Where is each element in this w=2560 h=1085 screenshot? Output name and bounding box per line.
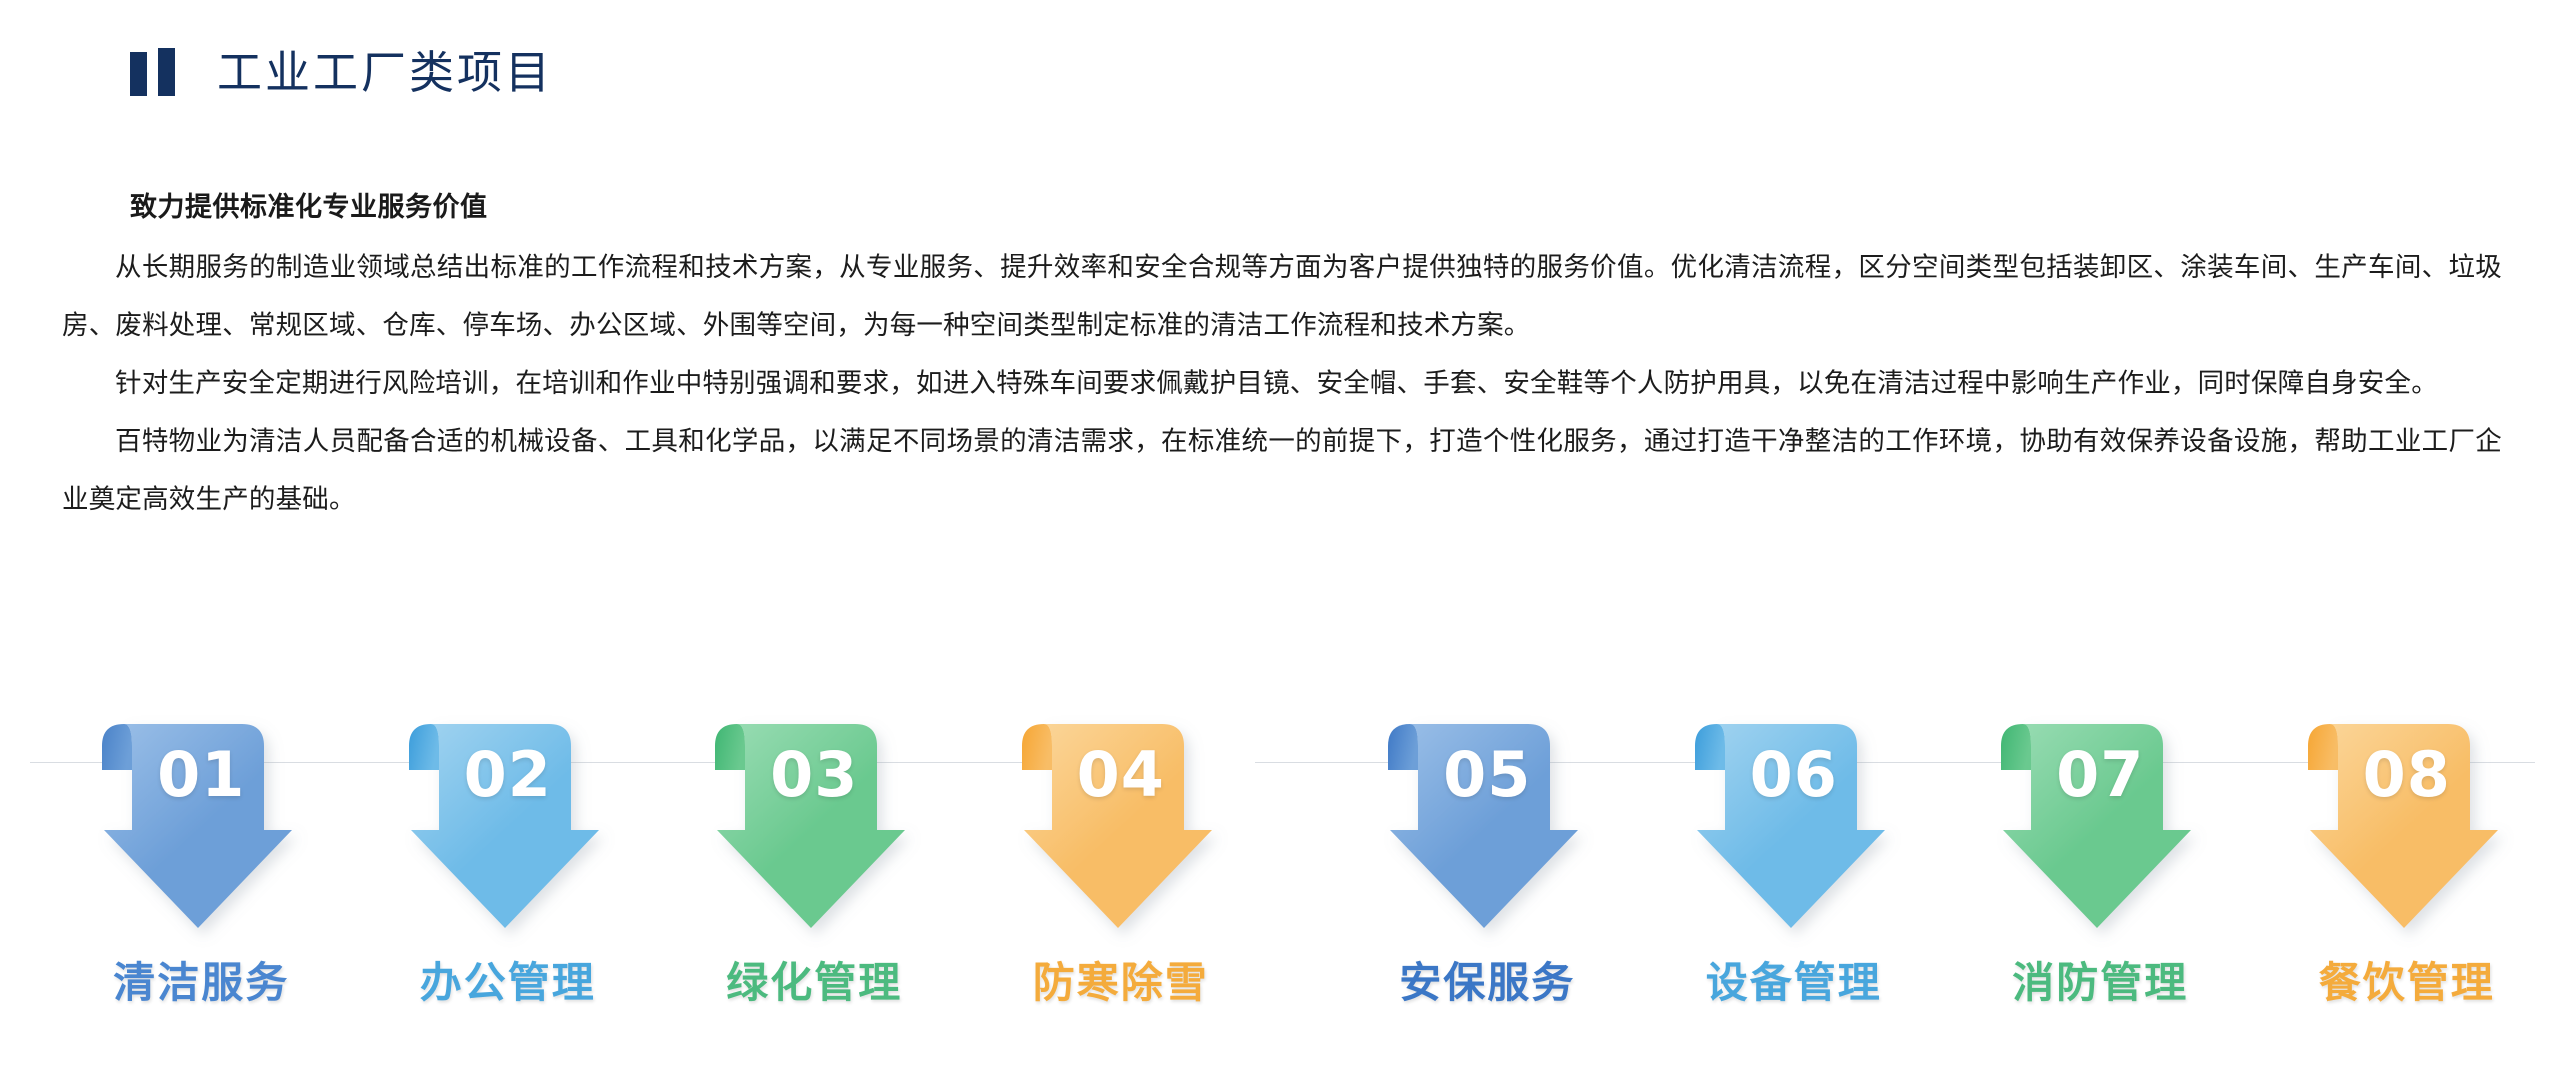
arrow-ribbon-graphic: 02 [393, 700, 623, 935]
service-item[interactable]: 02办公管理 [355, 700, 662, 1010]
service-arrow-strip: 01清洁服务02办公管理03绿化管理04防寒除雪05安保服务06设备管理07消防… [0, 700, 2560, 1085]
service-item[interactable]: 07消防管理 [1947, 700, 2254, 1010]
down-arrow-icon [1006, 700, 1236, 935]
arrow-ribbon-graphic: 08 [2292, 700, 2522, 935]
service-label: 设备管理 [1706, 949, 1882, 1010]
service-item[interactable]: 03绿化管理 [661, 700, 968, 1010]
service-label: 办公管理 [420, 949, 596, 1010]
service-item[interactable]: 04防寒除雪 [968, 700, 1275, 1010]
service-label: 清洁服务 [113, 949, 289, 1010]
down-arrow-icon [2292, 700, 2522, 935]
down-arrow-icon [699, 700, 929, 935]
arrow-ribbon-graphic: 04 [1006, 700, 1236, 935]
service-label: 防寒除雪 [1033, 949, 1209, 1010]
service-item[interactable]: 01清洁服务 [48, 700, 355, 1010]
arrow-ribbon-graphic: 01 [86, 700, 316, 935]
service-item[interactable]: 06设备管理 [1641, 700, 1948, 1010]
article-body: 致力提供标准化专业服务价值 从长期服务的制造业领域总结出标准的工作流程和技术方案… [62, 185, 2502, 528]
down-arrow-icon [86, 700, 316, 935]
arrow-ribbon-graphic: 07 [1985, 700, 2215, 935]
service-item[interactable]: 05安保服务 [1334, 700, 1641, 1010]
service-item-list: 01清洁服务02办公管理03绿化管理04防寒除雪05安保服务06设备管理07消防… [0, 700, 2560, 1010]
down-arrow-icon [1679, 700, 1909, 935]
down-arrow-icon [1985, 700, 2215, 935]
article-paragraph: 针对生产安全定期进行风险培训，在培训和作业中特别强调和要求，如进入特殊车间要求佩… [62, 354, 2502, 412]
arrow-ribbon-graphic: 03 [699, 700, 929, 935]
page-header: 工业工厂类项目 [130, 48, 553, 96]
down-arrow-icon [1372, 700, 1602, 935]
down-arrow-icon [393, 700, 623, 935]
arrow-ribbon-graphic: 05 [1372, 700, 1602, 935]
service-label: 餐饮管理 [2319, 949, 2495, 1010]
article-subtitle: 致力提供标准化专业服务价值 [130, 185, 2502, 224]
page-title: 工业工厂类项目 [217, 50, 553, 95]
article-paragraph: 百特物业为清洁人员配备合适的机械设备、工具和化学品，以满足不同场景的清洁需求，在… [62, 412, 2502, 528]
service-label: 消防管理 [2012, 949, 2188, 1010]
service-item[interactable]: 08餐饮管理 [2254, 700, 2560, 1010]
arrow-ribbon-graphic: 06 [1679, 700, 1909, 935]
service-label: 安保服务 [1399, 949, 1575, 1010]
service-label: 绿化管理 [726, 949, 902, 1010]
title-bars-icon [130, 48, 175, 96]
article-paragraph: 从长期服务的制造业领域总结出标准的工作流程和技术方案，从专业服务、提升效率和安全… [62, 238, 2502, 354]
